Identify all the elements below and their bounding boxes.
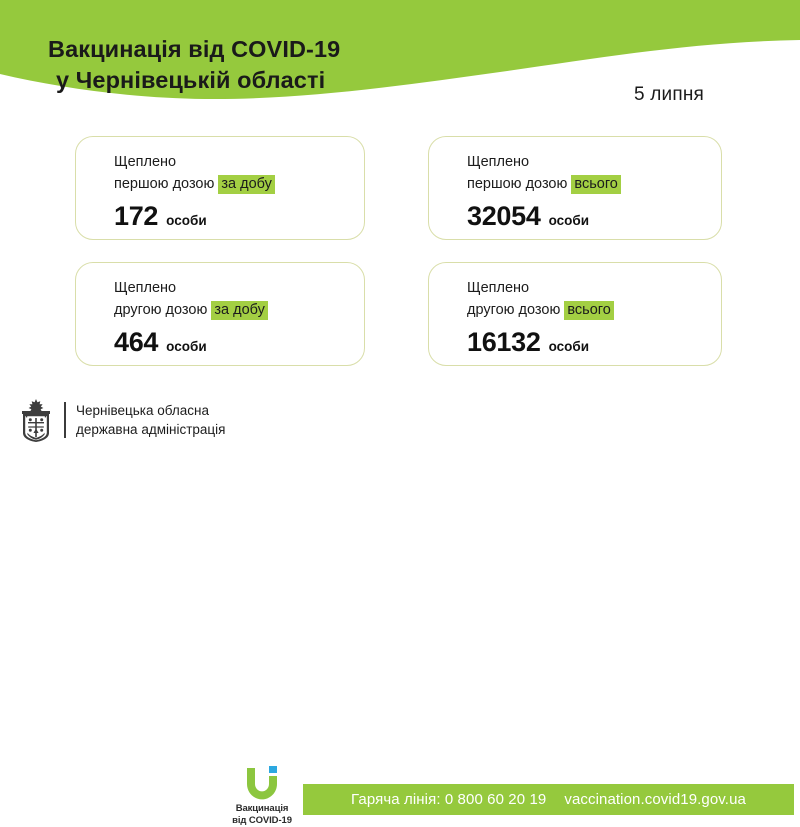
stat-card-content: Щеплено першою дозою всього 32054 особи [467,151,713,230]
stat-card-value-row: 32054 особи [467,203,713,230]
administration-branding: Чернівецька обласна державна адміністрац… [16,398,225,442]
page-title: Вакцинація від COVID-19 у Чернівецькій о… [48,34,478,97]
stat-card-line-1: Щеплено [467,277,713,299]
stat-card-line-2-prefix: другою дозою [467,302,564,318]
stat-card-unit: особи [549,214,589,228]
stat-card-value-row: 172 особи [114,203,356,230]
stat-card-unit: особи [166,340,206,354]
blue-square-accent [269,766,277,773]
stat-card-value: 464 [114,329,158,356]
stat-card-second-dose-daily: Щеплено другою дозою за добу 464 особи [75,262,365,366]
v-checkmark-logo-icon [239,766,285,802]
stat-card-value: 32054 [467,203,541,230]
stat-card-line-2-prefix: першою дозою [467,176,571,192]
stat-card-line-1: Щеплено [114,277,356,299]
stat-card-value-row: 16132 особи [467,329,713,356]
stat-card-line-2: другою дозою за добу [114,299,356,321]
branding-divider [64,402,66,438]
vaccination-logo-line-2: від COVID-19 [226,815,298,827]
page-title-line-2: у Чернівецькій області [48,65,478,96]
stat-card-line-2-prefix: другою дозою [114,302,211,318]
hotline-banner: Гаряча лінія: 0 800 60 20 19 vaccination… [303,784,794,815]
stat-card-line-2: першою дозою всього [467,173,713,195]
coat-of-arms-icon [16,398,56,442]
stat-card-period-highlight: всього [571,175,620,194]
stat-card-first-dose-daily: Щеплено першою дозою за добу 172 особи [75,136,365,240]
footer: Чернівецька обласна державна адміністрац… [0,380,800,462]
stat-card-line-2: другою дозою всього [467,299,713,321]
stat-card-first-dose-total: Щеплено першою дозою всього 32054 особи [428,136,722,240]
vaccination-logo: Вакцинація від COVID-19 [226,766,298,827]
report-date: 5 липня [634,84,704,106]
stat-card-period-highlight: за добу [218,175,275,194]
website-url[interactable]: vaccination.covid19.gov.ua [564,791,746,808]
stat-card-content: Щеплено другою дозою за добу 464 особи [114,277,356,356]
stat-card-unit: особи [166,214,206,228]
stat-card-second-dose-total: Щеплено другою дозою всього 16132 особи [428,262,722,366]
stat-card-value: 16132 [467,329,541,356]
infographic-page: Вакцинація від COVID-19 у Чернівецькій о… [0,0,800,462]
vaccination-logo-caption: Вакцинація від COVID-19 [226,803,298,827]
administration-name: Чернівецька обласна державна адміністрац… [76,401,225,439]
administration-name-line-2: державна адміністрація [76,420,225,439]
stat-card-content: Щеплено другою дозою всього 16132 особи [467,277,713,356]
page-title-line-1: Вакцинація від COVID-19 [48,36,340,62]
stat-card-line-1: Щеплено [467,151,713,173]
stat-card-content: Щеплено першою дозою за добу 172 особи [114,151,356,230]
stat-card-line-2: першою дозою за добу [114,173,356,195]
stat-card-period-highlight: за добу [211,301,268,320]
stat-card-line-1: Щеплено [114,151,356,173]
stat-card-value: 172 [114,203,158,230]
stat-card-unit: особи [549,340,589,354]
stat-card-period-highlight: всього [564,301,613,320]
stat-card-line-2-prefix: першою дозою [114,176,218,192]
administration-name-line-1: Чернівецька обласна [76,401,225,420]
hotline-number: Гаряча лінія: 0 800 60 20 19 [351,791,546,808]
stat-card-value-row: 464 особи [114,329,356,356]
vaccination-logo-line-1: Вакцинація [226,803,298,815]
